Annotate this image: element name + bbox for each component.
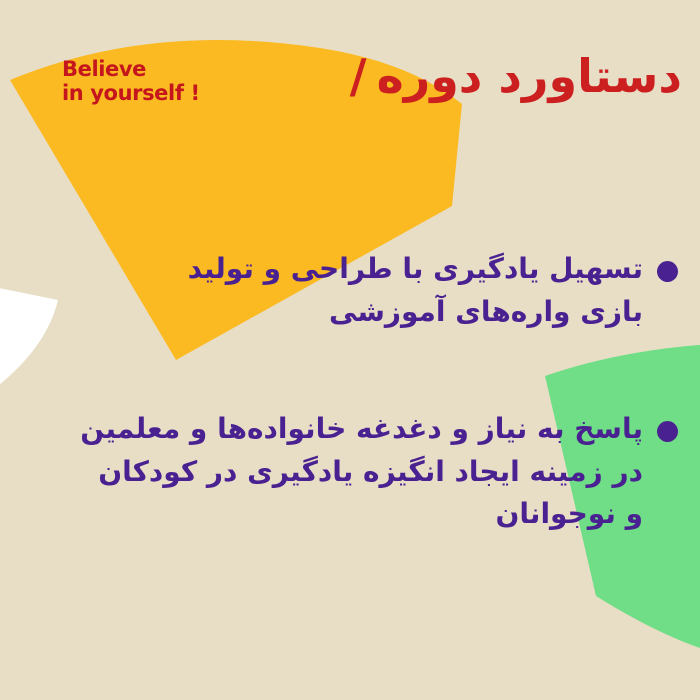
list-item-label: تسهیل یادگیری با طراحی و تولید بازی واره… [118, 248, 643, 333]
list-item: تسهیل یادگیری با طراحی و تولید بازی واره… [118, 248, 678, 333]
bullet-dot-icon [657, 261, 678, 282]
page-title-text: دستاورد دوره [377, 52, 682, 100]
list-item: پاسخ به نیاز و دغدغه خانواده‌ها و معلمین… [78, 408, 678, 536]
title-slash-icon: / [350, 52, 367, 100]
list-item-label: پاسخ به نیاز و دغدغه خانواده‌ها و معلمین… [78, 408, 643, 536]
bullet-dot-icon [657, 421, 678, 442]
slide-canvas: Believe in yourself ! دستاورد دوره / تسه… [0, 0, 700, 700]
believe-in-yourself-text: Believe in yourself ! [62, 58, 282, 105]
page-title: دستاورد دوره / [262, 52, 682, 100]
